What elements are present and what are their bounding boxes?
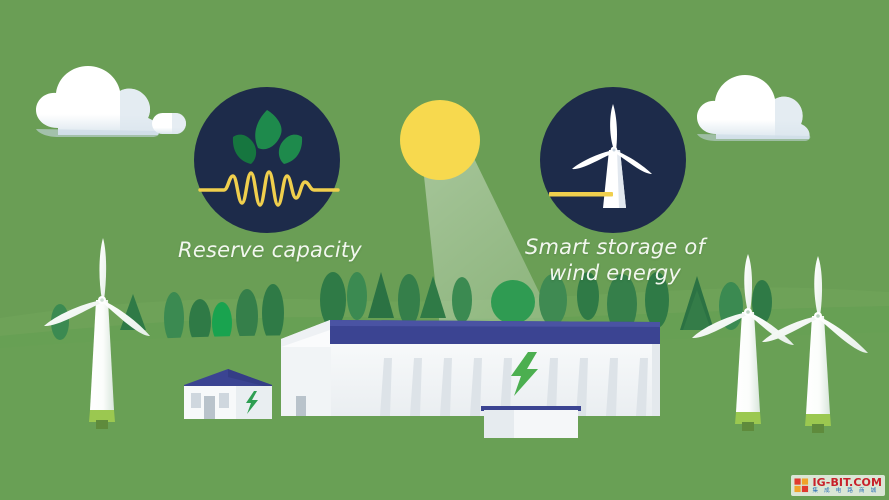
sun — [400, 100, 480, 180]
site-watermark: IG-BIT.COM 集 成 电 路 商 城 — [791, 475, 885, 497]
illustration-canvas: Reserve capacity Smart storage of wind e… — [0, 0, 889, 500]
ig-bit-logo-icon — [794, 478, 809, 493]
watermark-subtitle: 集 成 电 路 商 城 — [812, 489, 882, 495]
landscape-layer — [0, 0, 889, 500]
cloud-small-left — [152, 113, 186, 134]
badge-smart-storage-wind[interactable] — [540, 87, 686, 233]
badge-circle — [194, 87, 340, 233]
badge-label-smart-storage-wind: Smart storage of wind energy — [490, 235, 740, 286]
badge-label-reserve-capacity: Reserve capacity — [150, 238, 390, 264]
badge-reserve-capacity[interactable] — [194, 87, 340, 233]
watermark-domain: IG-BIT.COM — [812, 477, 882, 488]
